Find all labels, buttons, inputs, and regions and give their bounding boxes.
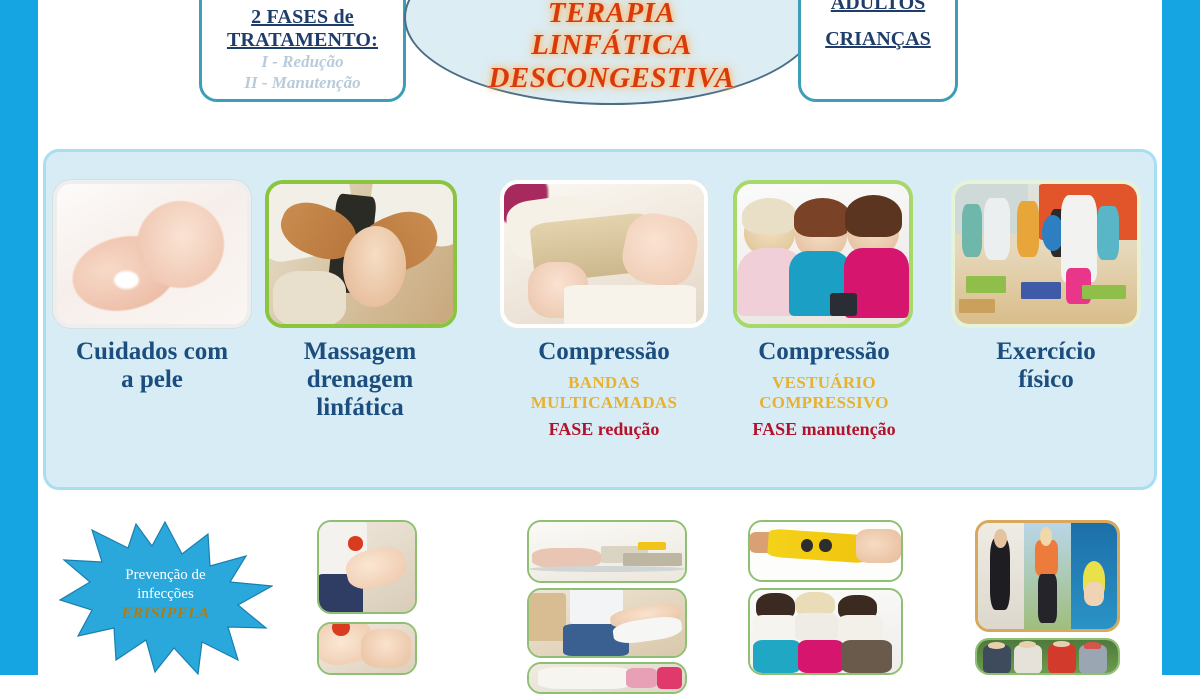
- oval-title-line2: LINFÁTICA: [531, 29, 692, 62]
- card-massage-title-line2: drenagem: [260, 366, 460, 394]
- phases-title-line2: TRATAMENTO:: [202, 29, 403, 52]
- exercise-triptych-thumb: [975, 520, 1120, 632]
- phase-1-label: I - Redução: [202, 52, 403, 72]
- card-skin-care-title-line2: a pele: [46, 366, 258, 394]
- card-garment-phase: FASE manutenção: [718, 419, 930, 440]
- card-exercise-caption: Exercício físico: [944, 338, 1148, 394]
- right-blue-band: [1162, 0, 1200, 675]
- lymphatic-massage-photo: [265, 180, 457, 328]
- audience-children-label: CRIANÇAS: [801, 28, 955, 50]
- starburst-shape-icon: [58, 520, 273, 675]
- card-garment-subtitle-line2: COMPRESSIVO: [759, 393, 889, 412]
- women-compression-stockings-thumb: [748, 588, 903, 675]
- compression-garment-women-photo: [733, 180, 913, 328]
- card-garment-caption: Compressão VESTUÁRIO COMPRESSIVO FASE ma…: [718, 338, 930, 440]
- card-garment-title: Compressão: [718, 338, 930, 366]
- oval-title-line1: TERAPIA: [548, 0, 676, 29]
- card-massage-title-line3: linfática: [260, 394, 460, 422]
- phase-2-label: II - Manutenção: [202, 73, 403, 93]
- treatment-components-panel: Cuidados com a pele Massagem drenagem: [43, 149, 1157, 490]
- central-title-oval: TERAPIA LINFÁTICA DESCONGESTIVA: [404, 0, 819, 105]
- poster-canvas: 2 FASES de TRATAMENTO: I - Redução II - …: [0, 0, 1200, 675]
- gym-exercise-class-photo: [951, 180, 1141, 328]
- skin-care-hands-photo: [53, 180, 251, 328]
- seniors-hiking-thumb: [975, 638, 1120, 675]
- phases-title-line1: 2 FASES de: [202, 6, 403, 29]
- card-exercise-title-line1: Exercício: [944, 338, 1148, 366]
- audience-box: ADULTOS CRIANÇAS: [798, 0, 958, 102]
- infection-prevention-starburst: Prevenção de infecções ERISIPELA: [58, 520, 273, 675]
- card-massage-title-line1: Massagem: [260, 338, 460, 366]
- audience-adults-label: ADULTOS: [801, 0, 955, 14]
- card-bandaging-subtitle-line2: MULTICAMADAS: [531, 393, 678, 412]
- card-bandaging-caption: Compressão BANDAS MULTICAMADAS FASE redu…: [492, 338, 716, 440]
- leg-bandaging-thumb: [527, 588, 687, 658]
- card-bandaging-title: Compressão: [492, 338, 716, 366]
- foot-massage-thumb-2: [317, 622, 417, 675]
- foot-massage-thumb-1: [317, 520, 417, 614]
- multilayer-bandaging-photo: [500, 180, 708, 328]
- oval-title-line3: DESCONGESTIVA: [488, 62, 734, 95]
- card-bandaging-phase: FASE redução: [492, 419, 716, 440]
- leg-bandaged-detail-thumb: [527, 662, 687, 694]
- card-garment-subtitle-line1: VESTUÁRIO: [772, 373, 876, 392]
- yellow-compression-sleeve-thumb: [748, 520, 903, 582]
- card-massage-caption: Massagem drenagem linfática: [260, 338, 460, 422]
- card-skin-care-caption: Cuidados com a pele: [46, 338, 258, 394]
- left-blue-band: [0, 0, 38, 675]
- card-exercise-title-line2: físico: [944, 366, 1148, 394]
- treatment-phases-box: 2 FASES de TRATAMENTO: I - Redução II - …: [199, 0, 406, 102]
- card-bandaging-subtitle-line1: BANDAS: [568, 373, 640, 392]
- card-skin-care-title-line1: Cuidados com: [46, 338, 258, 366]
- bandage-supplies-table-thumb: [527, 520, 687, 583]
